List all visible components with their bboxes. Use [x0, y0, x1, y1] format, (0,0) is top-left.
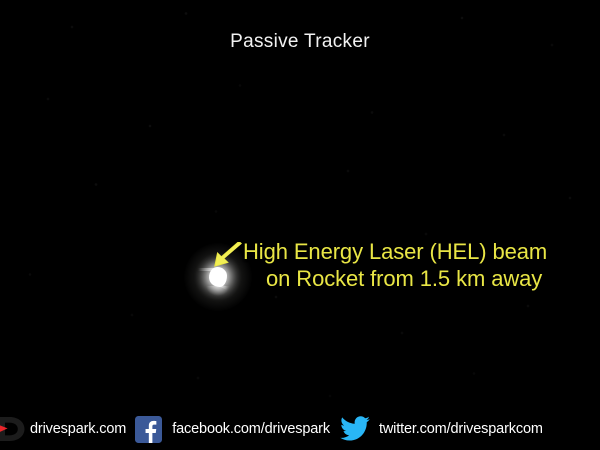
footer-item-website[interactable]: drivespark.com — [0, 408, 126, 450]
footer-label-twitter: twitter.com/drivesparkcom — [379, 421, 543, 437]
footer-label-facebook: facebook.com/drivespark — [172, 421, 330, 437]
footer-label-website: drivespark.com — [30, 421, 126, 437]
annotation-line-1: High Energy Laser (HEL) beam — [0, 238, 600, 265]
facebook-icon — [135, 416, 162, 443]
footer-item-twitter[interactable]: twitter.com/drivesparkcom — [330, 408, 543, 450]
drivespark-logo-icon — [0, 411, 30, 447]
twitter-icon — [340, 416, 370, 442]
footer-item-facebook[interactable]: facebook.com/drivespark — [126, 408, 330, 450]
page-title: Passive Tracker — [0, 31, 600, 53]
video-frame: Passive Tracker High Energy Laser (HEL) … — [0, 0, 600, 450]
annotation-caption: High Energy Laser (HEL) beam on Rocket f… — [0, 238, 600, 292]
footer-branding-bar: drivespark.com facebook.com/drivespark t… — [0, 408, 600, 450]
annotation-line-2: on Rocket from 1.5 km away — [0, 265, 600, 292]
night-sky-background — [0, 0, 600, 450]
